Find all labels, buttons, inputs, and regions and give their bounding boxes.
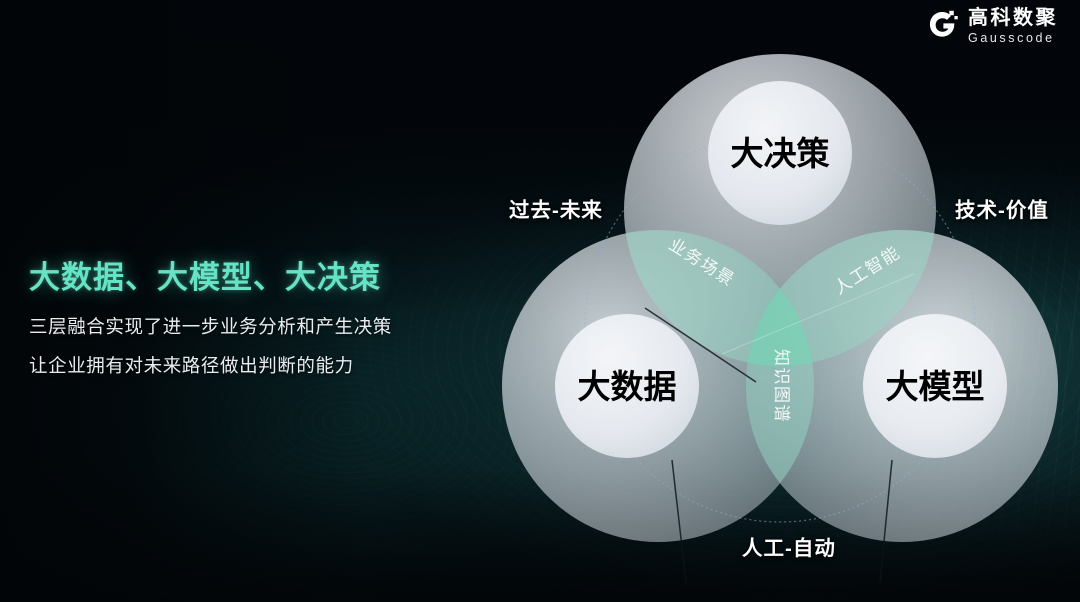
venn-diagram: 大决策 大数据 大模型 业务场景 人工智能 知识图谱 [494, 22, 1066, 582]
brand-name-en: Gausscode [968, 32, 1058, 45]
slide-canvas: 大数据、大模型、大决策 三层融合实现了进一步业务分析和产生决策 让企业拥有对未来… [0, 0, 1080, 602]
venn-label-right: 大模型 [886, 368, 985, 405]
gausscode-g-mark-icon [928, 10, 959, 41]
brand-name-cn: 高科数聚 [968, 8, 1058, 28]
axis-label-past-future: 过去-未来 [509, 193, 603, 223]
brand-logo-text: 高科数聚 Gausscode [968, 8, 1058, 45]
subtitle-line-1: 三层融合实现了进一步业务分析和产生决策 [29, 313, 469, 339]
venn-intersection-label-bottom: 知识图谱 [773, 349, 792, 423]
venn-label-top: 大决策 [731, 135, 830, 172]
page-title: 大数据、大模型、大决策 [29, 252, 469, 297]
brand-logo: 高科数聚 Gausscode [928, 8, 1058, 45]
axis-label-manual-auto: 人工-自动 [742, 531, 836, 561]
left-text-block: 大数据、大模型、大决策 三层融合实现了进一步业务分析和产生决策 让企业拥有对未来… [29, 252, 469, 391]
axis-label-tech-value: 技术-价值 [955, 193, 1049, 223]
subtitle-line-2: 让企业拥有对未来路径做出判断的能力 [29, 352, 469, 378]
venn-label-left: 大数据 [578, 368, 677, 405]
